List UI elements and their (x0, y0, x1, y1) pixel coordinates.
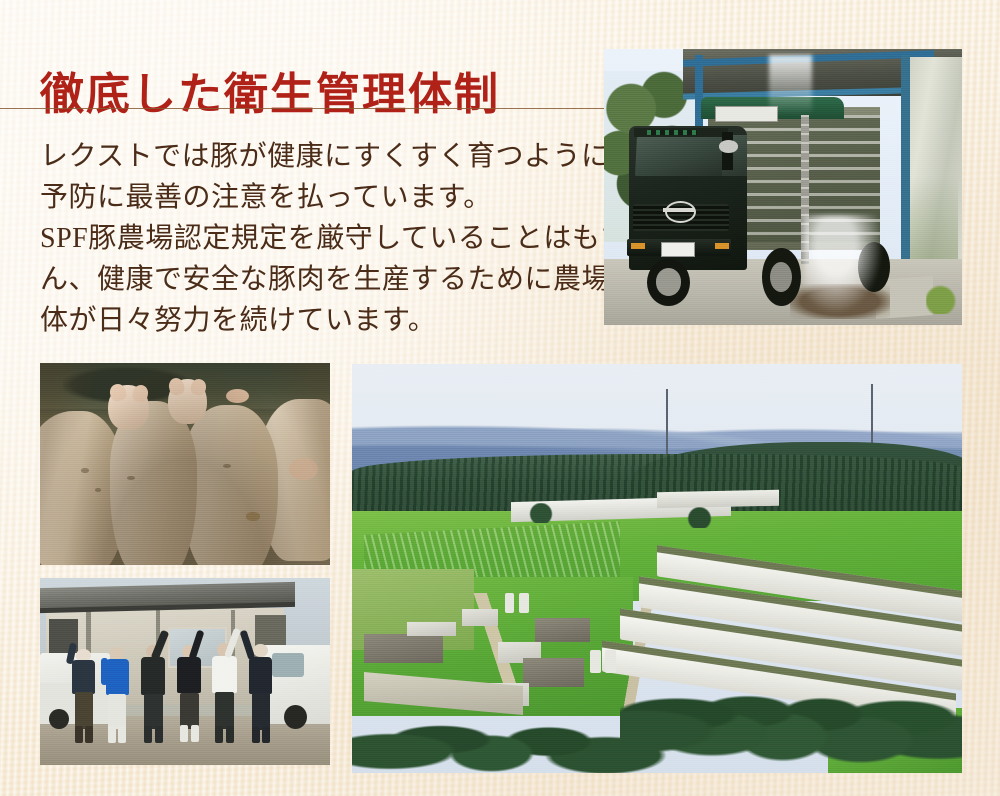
photo-farm-staff-group (40, 578, 330, 765)
photo-farm-aerial-view (352, 364, 962, 773)
title-divider (0, 108, 604, 109)
page-title: 徹底した衛生管理体制 (40, 67, 500, 123)
body-line-5: 体が日々努力を続けています。 (40, 300, 585, 341)
photo-pigs-in-pen (40, 363, 330, 565)
body-line-4: ん、健康で安全な豚肉を生産するために農場全 (40, 259, 585, 300)
body-line-3: SPF豚農場認定規定を厳守していることはもちろ (40, 218, 585, 259)
body-line-2: 予防に最善の注意を払っています。 (40, 177, 585, 218)
body-line-1: レクストでは豚が健康にすくすく育つように、病気の (40, 136, 585, 177)
photo-livestock-truck-washing (604, 49, 962, 325)
body-text: レクストでは豚が健康にすくすく育つように、病気の 予防に最善の注意を払っています… (40, 136, 585, 341)
